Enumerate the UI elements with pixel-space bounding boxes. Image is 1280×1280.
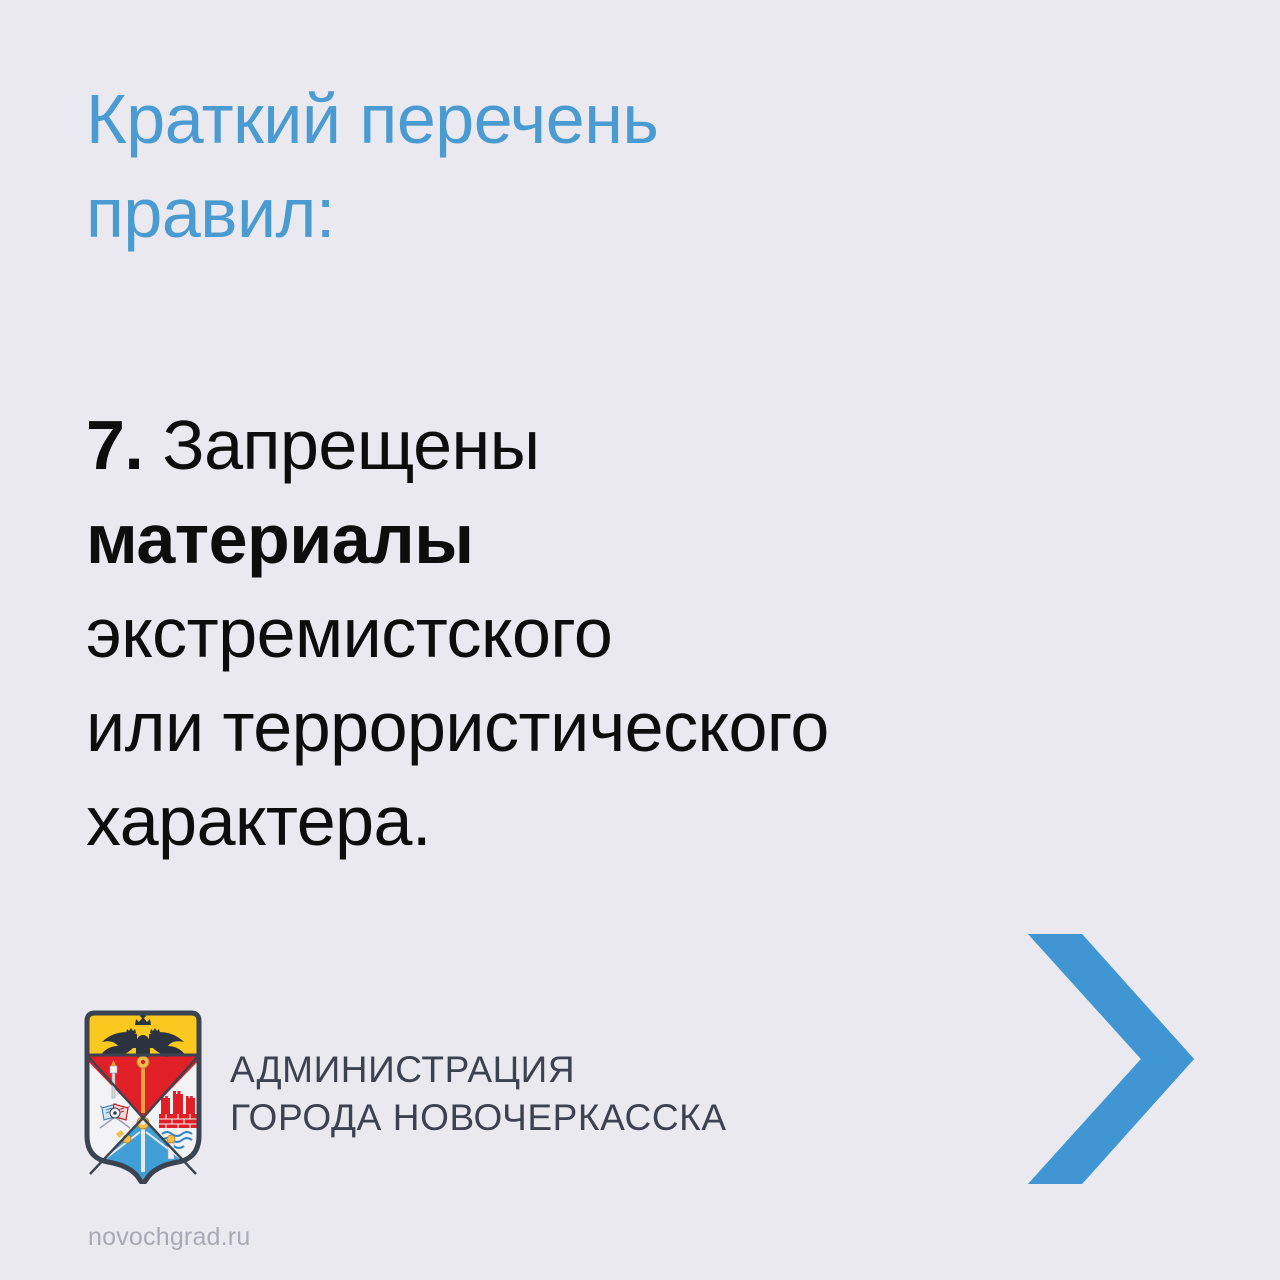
rule-text-block: 7. Запрещены материалы экстремистского и…: [86, 398, 1146, 868]
slide-card: Краткий перечень правил: 7. Запрещены ма…: [0, 0, 1280, 1280]
rule-number: 7.: [86, 406, 143, 484]
rule-line-5: характера.: [86, 774, 1146, 868]
rule-line-1: 7. Запрещены: [86, 398, 1146, 492]
site-url: novochgrad.ru: [88, 1222, 250, 1252]
page-title: Краткий перечень правил:: [86, 72, 986, 260]
rule-line-4: или террористического: [86, 680, 1146, 774]
rule-line-3: экстремистского: [86, 586, 1146, 680]
administration-name: АДМИНИСТРАЦИЯ ГОРОДА НОВОЧЕРКАССКА: [230, 1046, 727, 1146]
novocherkassk-coat-of-arms-icon: [82, 1008, 204, 1184]
chevron-right-icon[interactable]: [1022, 928, 1197, 1190]
rule-line-2: материалы: [86, 492, 1146, 586]
brand-block: АДМИНИСТРАЦИЯ ГОРОДА НОВОЧЕРКАССКА: [82, 1008, 727, 1184]
rule-line-1-rest: Запрещены: [143, 406, 539, 484]
